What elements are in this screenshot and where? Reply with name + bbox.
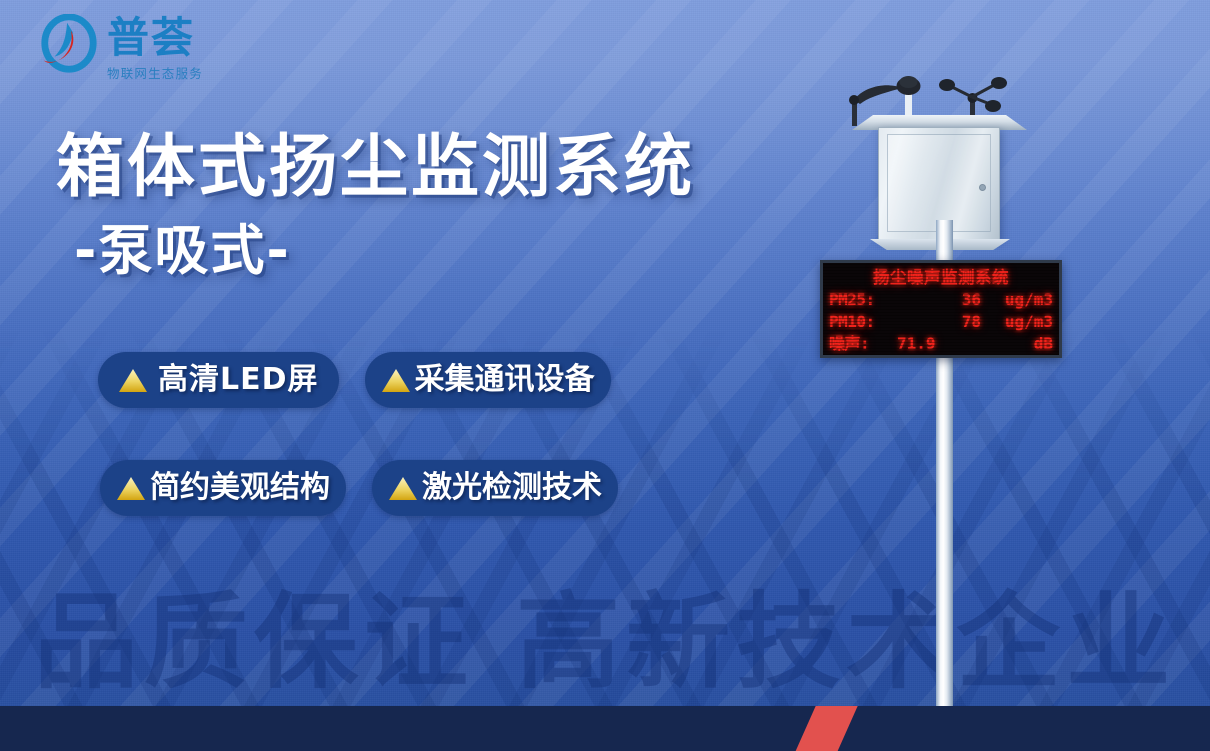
led-reading-unit: dB [989, 333, 1053, 355]
led-reading-value: 71.9 [891, 333, 989, 355]
page-subtitle: -泵吸式- [74, 216, 695, 286]
feature-pill-label: 激光检测技术 [422, 471, 602, 505]
led-reading-value: 36 [913, 289, 989, 311]
led-display-panel[interactable]: 扬尘噪声监测系统 PM25: 36 ug/m3 PM10: 78 ug/m3 噪… [820, 260, 1062, 358]
triangle-up-icon [388, 475, 418, 501]
brand-name: 普荟 [107, 16, 203, 60]
triangle-up-icon [118, 367, 148, 393]
feature-pill-simple-structure[interactable]: 简约美观结构 [100, 460, 346, 516]
footer-accent-slash [792, 706, 861, 751]
page-title: 箱体式扬尘监测系统 [56, 128, 695, 208]
feature-pill-label: 简约美观结构 [150, 471, 330, 505]
feature-pill-label: 高清LED屏 [158, 363, 319, 397]
triangle-up-icon [116, 475, 146, 501]
led-reading-key: PM25: [829, 289, 913, 311]
dust-monitoring-device: 扬尘噪声监测系统 PM25: 36 ug/m3 PM10: 78 ug/m3 噪… [790, 70, 1090, 730]
triangle-up-icon [381, 367, 411, 393]
feature-pill-acquisition-comms[interactable]: 采集通讯设备 [365, 352, 611, 408]
enclosure-door [887, 134, 991, 232]
feature-row-1: 高清LED屏 采集通讯设备 [98, 352, 738, 408]
footer-bar [0, 706, 1210, 751]
led-reading-pm25: PM25: 36 ug/m3 [829, 289, 1053, 311]
brand-logo[interactable]: 普荟 物联网生态服务 [38, 14, 203, 82]
feature-pill-hd-led-screen[interactable]: 高清LED屏 [98, 352, 339, 408]
led-display-title: 扬尘噪声监测系统 [829, 267, 1053, 289]
led-reading-unit: ug/m3 [989, 311, 1053, 333]
promo-banner: 普荟 物联网生态服务 箱体式扬尘监测系统 -泵吸式- 高清LED屏 [0, 0, 1210, 751]
feature-pill-laser-detection[interactable]: 激光检测技术 [372, 460, 618, 516]
enclosure-latch-icon [979, 184, 986, 191]
led-reading-key: PM10: [829, 311, 913, 333]
led-reading-noise: 噪声: 71.9 dB [829, 333, 1053, 355]
led-reading-value: 78 [913, 311, 989, 333]
led-reading-pm10: PM10: 78 ug/m3 [829, 311, 1053, 333]
pu-hui-circle-logo-icon [38, 14, 100, 76]
led-reading-unit: ug/m3 [989, 289, 1053, 311]
led-reading-key: 噪声: [829, 333, 891, 355]
feature-pill-label: 采集通讯设备 [415, 363, 595, 397]
headline-block: 箱体式扬尘监测系统 -泵吸式- [56, 128, 695, 286]
brand-tagline: 物联网生态服务 [107, 63, 203, 82]
feature-list: 高清LED屏 采集通讯设备 简约美观结构 激光检测技术 [98, 352, 738, 516]
feature-row-2: 简约美观结构 激光检测技术 [100, 460, 738, 516]
